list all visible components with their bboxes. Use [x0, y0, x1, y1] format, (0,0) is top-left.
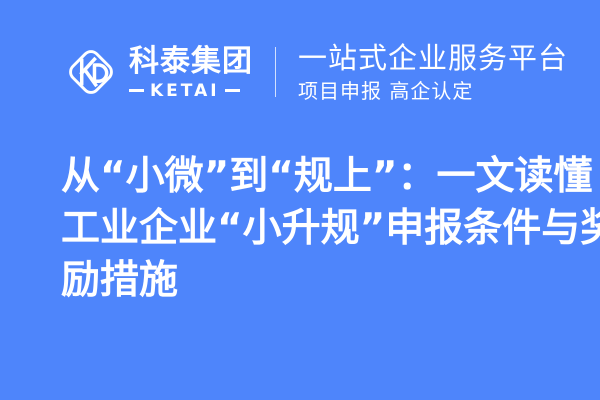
tagline-block: 一站式企业服务平台 项目申报 高企认定 [298, 39, 568, 105]
brand-name-cn: 科泰集团 [129, 45, 253, 79]
dash-left-icon [129, 89, 144, 92]
brand-wordmark: 科泰集团 KETAI [129, 41, 253, 103]
tagline-main: 一站式企业服务平台 [298, 42, 568, 75]
tagline-sub: 项目申报 高企认定 [298, 79, 568, 103]
headline-line-2: 工业企业“小升规”申报条件与奖 [61, 203, 566, 255]
dash-right-icon [225, 89, 240, 92]
brand-lockup[interactable]: 科泰集团 KETAI [62, 36, 253, 108]
brand-name-en: KETAI [150, 82, 220, 100]
promo-banner: 科泰集团 KETAI 一站式企业服务平台 项目申报 高企认定 从“小微”到“规上… [0, 0, 600, 400]
header-divider [275, 47, 276, 97]
brand-name-en-row: KETAI [129, 82, 253, 100]
headline: 从“小微”到“规上”：一文读懂 工业企业“小升规”申报条件与奖 励措施 [61, 151, 566, 307]
ketai-diamond-kd-logo-icon [62, 43, 120, 101]
banner-header: 科泰集团 KETAI 一站式企业服务平台 项目申报 高企认定 [62, 36, 568, 108]
headline-line-1: 从“小微”到“规上”：一文读懂 [61, 151, 566, 203]
headline-line-3: 励措施 [61, 255, 566, 307]
